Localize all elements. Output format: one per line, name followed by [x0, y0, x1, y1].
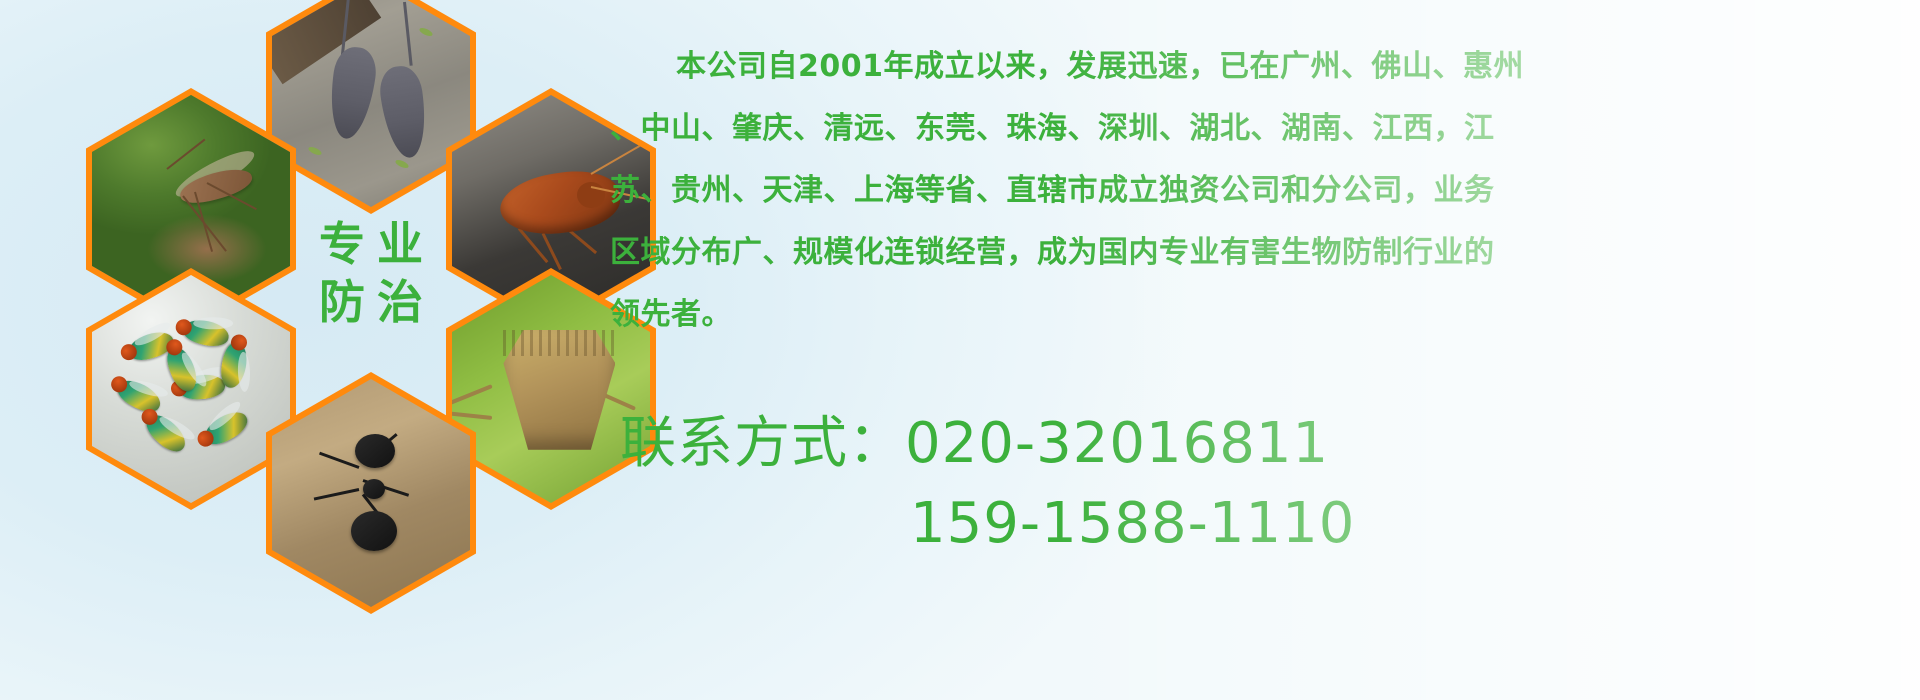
cockroach-leg-icon: [542, 233, 562, 270]
hex-tile-flies: [86, 268, 296, 510]
intro-line-2: 、中山、肇庆、清远、东莞、珠海、深圳、湖北、湖南、江西，江: [610, 98, 1910, 160]
fly-icon: [200, 406, 252, 450]
rat-tail-icon: [403, 2, 413, 66]
fly-icon: [141, 409, 191, 458]
bug-leg-icon: [452, 411, 492, 420]
ant-head-icon: [355, 434, 395, 468]
leaf-icon: [418, 27, 433, 38]
bug-segment-texture: [503, 330, 615, 356]
hex-tile-ant: [266, 372, 476, 614]
hex-inner-flies: [92, 275, 290, 503]
mosquito-leg-icon: [167, 139, 206, 170]
contact-info: 联系方式：020-32016811 159-1588-1110: [620, 404, 1900, 564]
ant-abdomen-icon: [351, 511, 397, 551]
slogan-line-1: 专业: [307, 220, 435, 268]
contact-line-primary[interactable]: 联系方式：020-32016811: [620, 404, 1900, 484]
ant-leg-icon: [319, 451, 359, 468]
promo-banner: 专业 防治 本公司自2001年成立以来，发展迅速，已在广州、佛山、惠州 、中山、…: [0, 0, 1920, 700]
rat-body-icon: [325, 45, 379, 142]
ant-photo: [272, 379, 470, 607]
fly-icon: [218, 340, 250, 389]
intro-line-3: 苏、贵州、天津、上海等省、直辖市成立独资公司和分公司，业务: [610, 160, 1910, 222]
slogan-hex: 专业 防治: [266, 152, 476, 394]
fly-icon: [181, 316, 231, 349]
rat-body-icon: [377, 63, 431, 160]
company-intro-paragraph: 本公司自2001年成立以来，发展迅速，已在广州、佛山、惠州 、中山、肇庆、清远、…: [610, 36, 1910, 346]
contact-line-secondary[interactable]: 159-1588-1110: [620, 484, 1900, 564]
flies-photo: [92, 275, 290, 503]
intro-line-5: 领先者。: [610, 284, 1910, 346]
ant-thorax-icon: [363, 479, 385, 499]
hex-photo-cluster: 专业 防治: [88, 0, 588, 560]
ant-leg-icon: [314, 488, 360, 500]
hex-inner-ant: [272, 379, 470, 607]
fly-icon: [113, 375, 165, 418]
slogan-line-2: 防治: [307, 278, 435, 326]
intro-line-4: 区域分布广、规模化连锁经营，成为国内专业有害生物防制行业的: [610, 222, 1910, 284]
cockroach-body-icon: [496, 164, 623, 240]
skin-redness-shape: [147, 214, 267, 284]
intro-line-1: 本公司自2001年成立以来，发展迅速，已在广州、佛山、惠州: [610, 36, 1910, 98]
